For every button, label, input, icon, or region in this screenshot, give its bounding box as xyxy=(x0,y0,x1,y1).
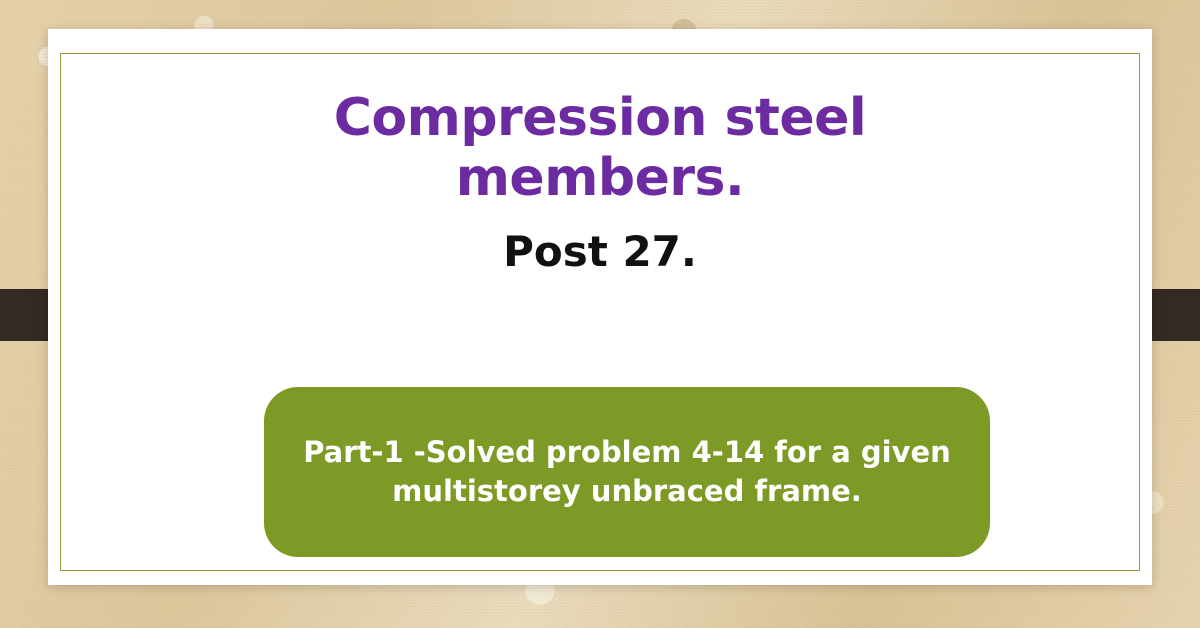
slide-root: Compression steel members. Post 27. Part… xyxy=(0,0,1200,628)
slide-card: Compression steel members. Post 27. Part… xyxy=(48,29,1152,585)
description-badge: Part-1 -Solved problem 4-14 for a given … xyxy=(264,387,990,557)
page-subtitle: Post 27. xyxy=(220,227,980,277)
description-badge-label: Part-1 -Solved problem 4-14 for a given … xyxy=(298,433,956,511)
page-title: Compression steel members. xyxy=(220,89,980,209)
